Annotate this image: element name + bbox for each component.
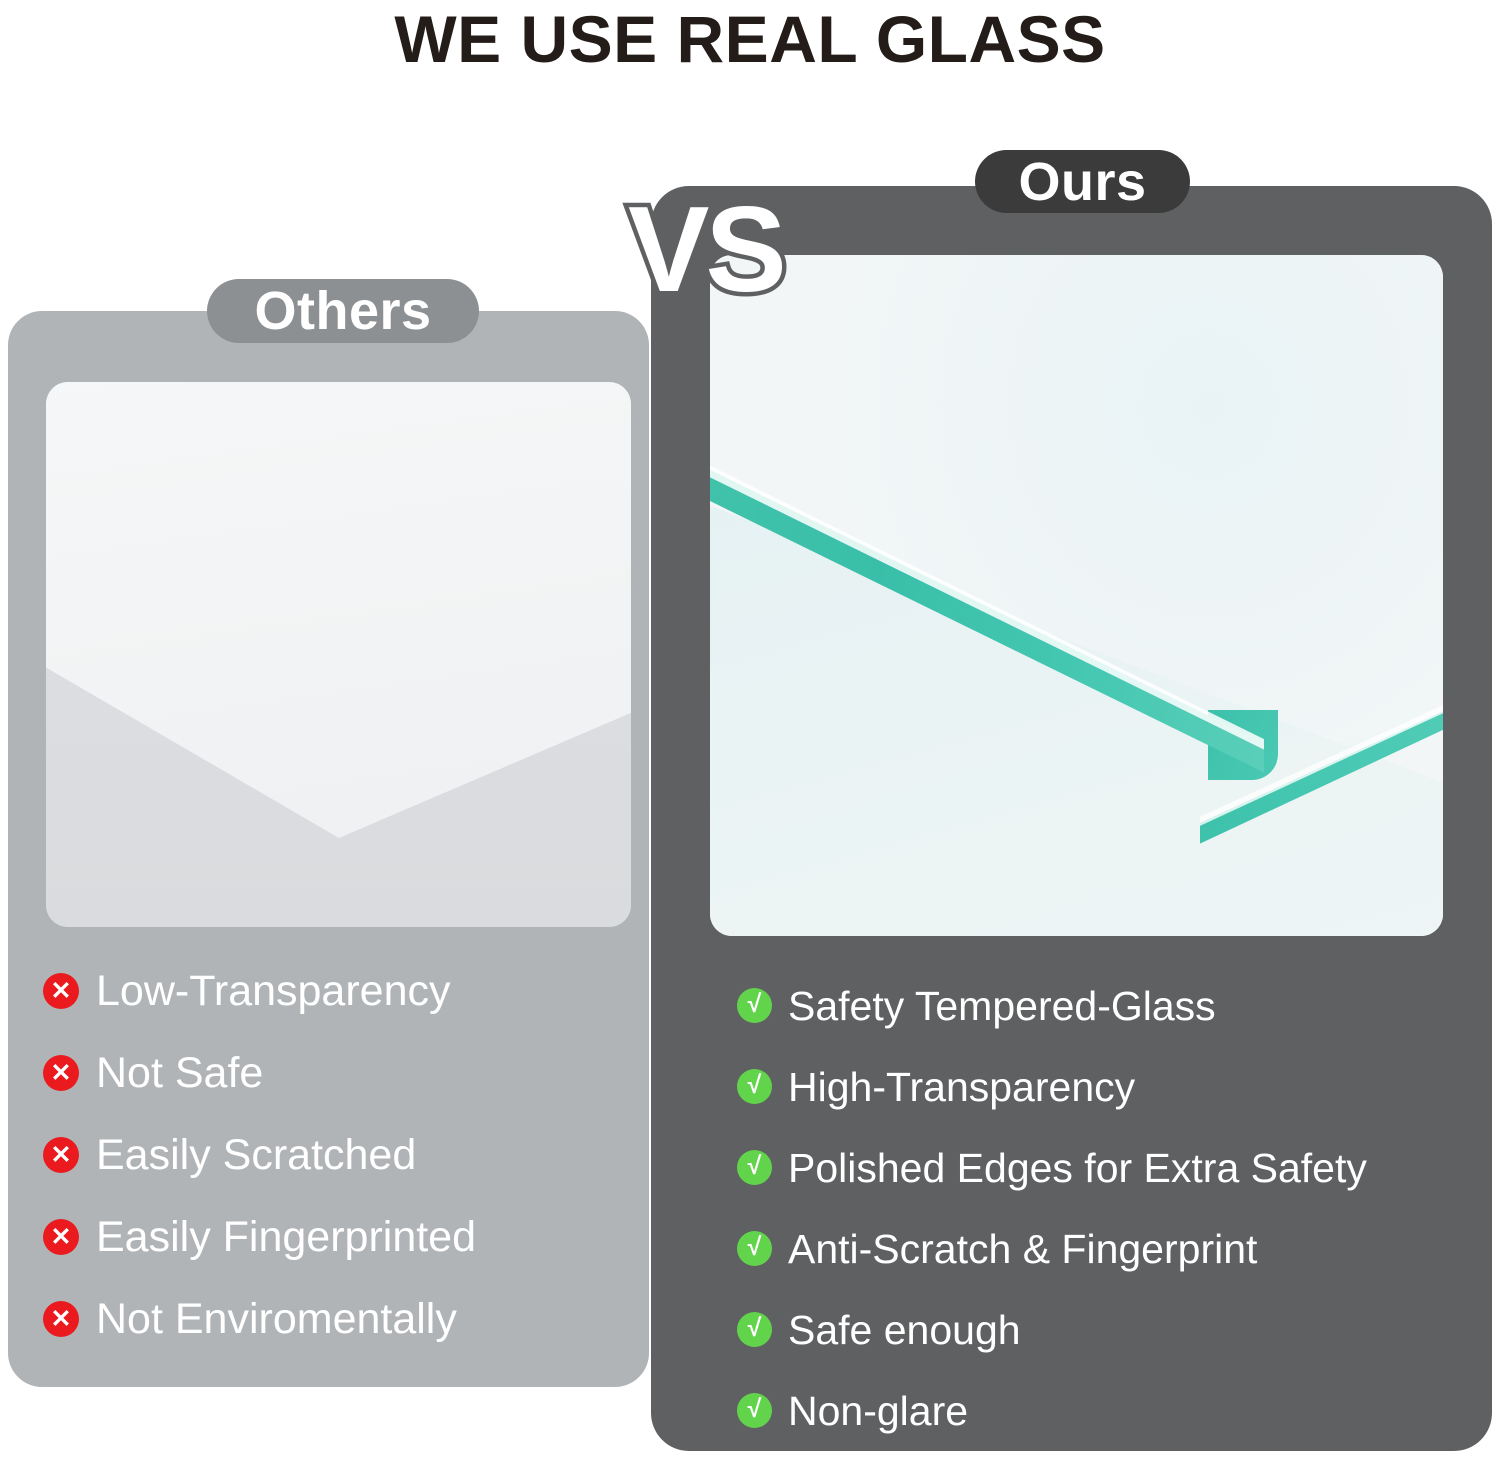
cross-icon: ✕	[43, 1301, 79, 1337]
feature-label: Not Safe	[96, 1049, 263, 1097]
page-title: WE USE REAL GLASS	[0, 2, 1500, 76]
others-feature-list: ✕ Low-Transparency ✕ Not Safe ✕ Easily S…	[43, 950, 643, 1360]
badge-others: Others	[207, 279, 479, 343]
feature-label: Easily Scratched	[96, 1131, 416, 1179]
list-item: √ High-Transparency	[737, 1046, 1477, 1127]
feature-label: Safety Tempered-Glass	[788, 982, 1216, 1030]
vs-label: VS	[628, 190, 783, 308]
list-item: ✕ Easily Fingerprinted	[43, 1196, 643, 1278]
feature-label: Safe enough	[788, 1306, 1021, 1354]
badge-ours-label: Ours	[1018, 151, 1146, 213]
check-icon: √	[737, 1393, 772, 1428]
feature-label: Easily Fingerprinted	[96, 1213, 476, 1261]
check-icon: √	[737, 1231, 772, 1266]
check-icon: √	[737, 1150, 772, 1185]
cross-icon: ✕	[43, 1137, 79, 1173]
check-icon: √	[737, 988, 772, 1023]
ours-feature-list: √ Safety Tempered-Glass √ High-Transpare…	[737, 965, 1477, 1451]
list-item: ✕ Easily Scratched	[43, 1114, 643, 1196]
list-item: √ Polished Edges for Extra Safety	[737, 1127, 1477, 1208]
badge-others-label: Others	[254, 280, 431, 342]
feature-label: Not Enviromentally	[96, 1295, 457, 1343]
list-item: ✕ Low-Transparency	[43, 950, 643, 1032]
check-icon: √	[737, 1069, 772, 1104]
cross-icon: ✕	[43, 1219, 79, 1255]
cross-icon: ✕	[43, 973, 79, 1009]
feature-label: High-Transparency	[788, 1063, 1135, 1111]
list-item: ✕ Not Enviromentally	[43, 1278, 643, 1360]
feature-label: Low-Transparency	[96, 967, 451, 1015]
feature-label: Anti-Scratch & Fingerprint	[788, 1225, 1257, 1273]
list-item: √ Anti-Scratch & Fingerprint	[737, 1208, 1477, 1289]
list-item: √ Safe enough	[737, 1289, 1477, 1370]
others-product-photo	[46, 382, 631, 927]
feature-label: Non-glare	[788, 1387, 968, 1435]
list-item: ✕ Not Safe	[43, 1032, 643, 1114]
list-item: √ Safety Tempered-Glass	[737, 965, 1477, 1046]
badge-ours: Ours	[975, 150, 1190, 213]
cross-icon: ✕	[43, 1055, 79, 1091]
feature-label: Polished Edges for Extra Safety	[788, 1144, 1367, 1192]
ours-product-photo	[710, 255, 1443, 936]
check-icon: √	[737, 1312, 772, 1347]
list-item: √ Non-glare	[737, 1370, 1477, 1451]
